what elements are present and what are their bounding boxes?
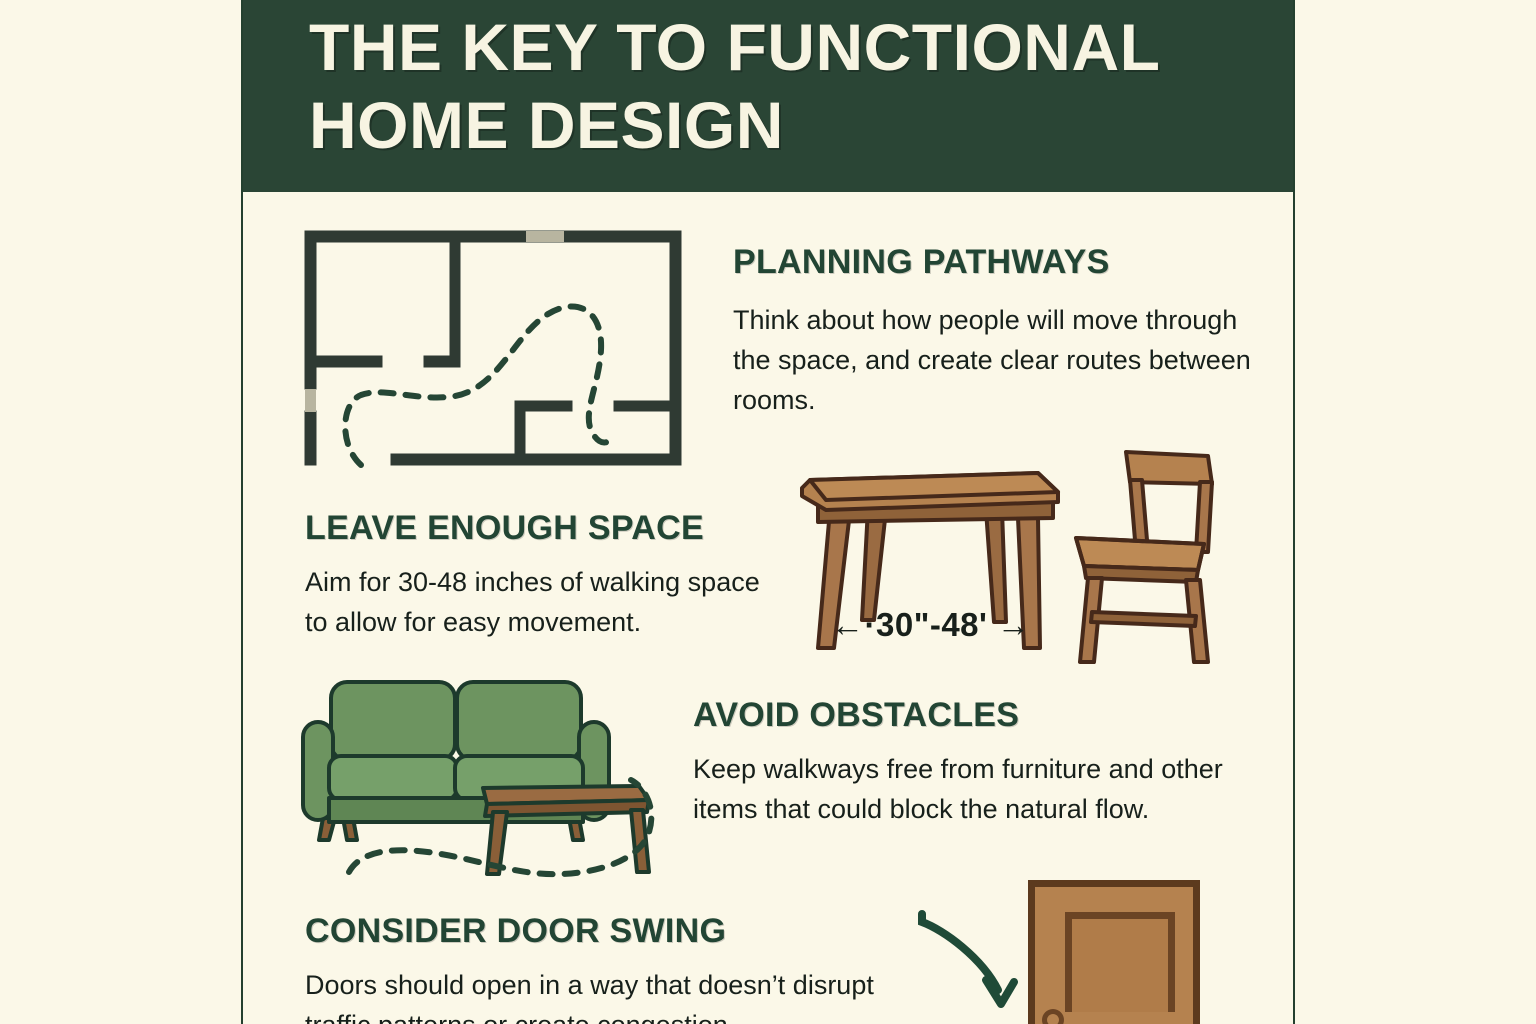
- infographic-poster: THE KEY TO FUNCTIONAL HOME DESIGN: [241, 0, 1295, 1024]
- section-title-planning-pathways: PLANNING PATHWAYS: [733, 243, 1110, 282]
- section-body-leave-enough-space: Aim for 30-48 inches of walking space to…: [305, 562, 775, 642]
- section-body-planning-pathways: Think about how people will move through…: [733, 300, 1253, 420]
- poster-header-band: THE KEY TO FUNCTIONAL HOME DESIGN: [243, 0, 1293, 192]
- door-swing-illustration: [898, 862, 1295, 1024]
- floor-plan-illustration: [283, 215, 703, 495]
- door-gap-left: [305, 389, 316, 412]
- wooden-door: [1028, 880, 1200, 1024]
- section-body-consider-door-swing: Doors should open in a way that doesn’t …: [305, 965, 905, 1024]
- traffic-path-dashed: [345, 306, 613, 465]
- sofa-and-coffee-table-illustration: [291, 660, 691, 890]
- page-title: THE KEY TO FUNCTIONAL HOME DESIGN: [309, 8, 1229, 164]
- door-swing-arrow: [922, 914, 1014, 1004]
- door-gap-top: [526, 231, 564, 242]
- dimension-label-30-48: ←·30"-48' →: [831, 606, 1031, 644]
- section-body-avoid-obstacles: Keep walkways free from furniture and ot…: [693, 749, 1258, 829]
- section-title-consider-door-swing: CONSIDER DOOR SWING: [305, 912, 726, 951]
- section-title-leave-enough-space: LEAVE ENOUGH SPACE: [305, 509, 704, 548]
- dining-chair: [1076, 452, 1212, 662]
- section-title-avoid-obstacles: AVOID OBSTACLES: [693, 696, 1019, 735]
